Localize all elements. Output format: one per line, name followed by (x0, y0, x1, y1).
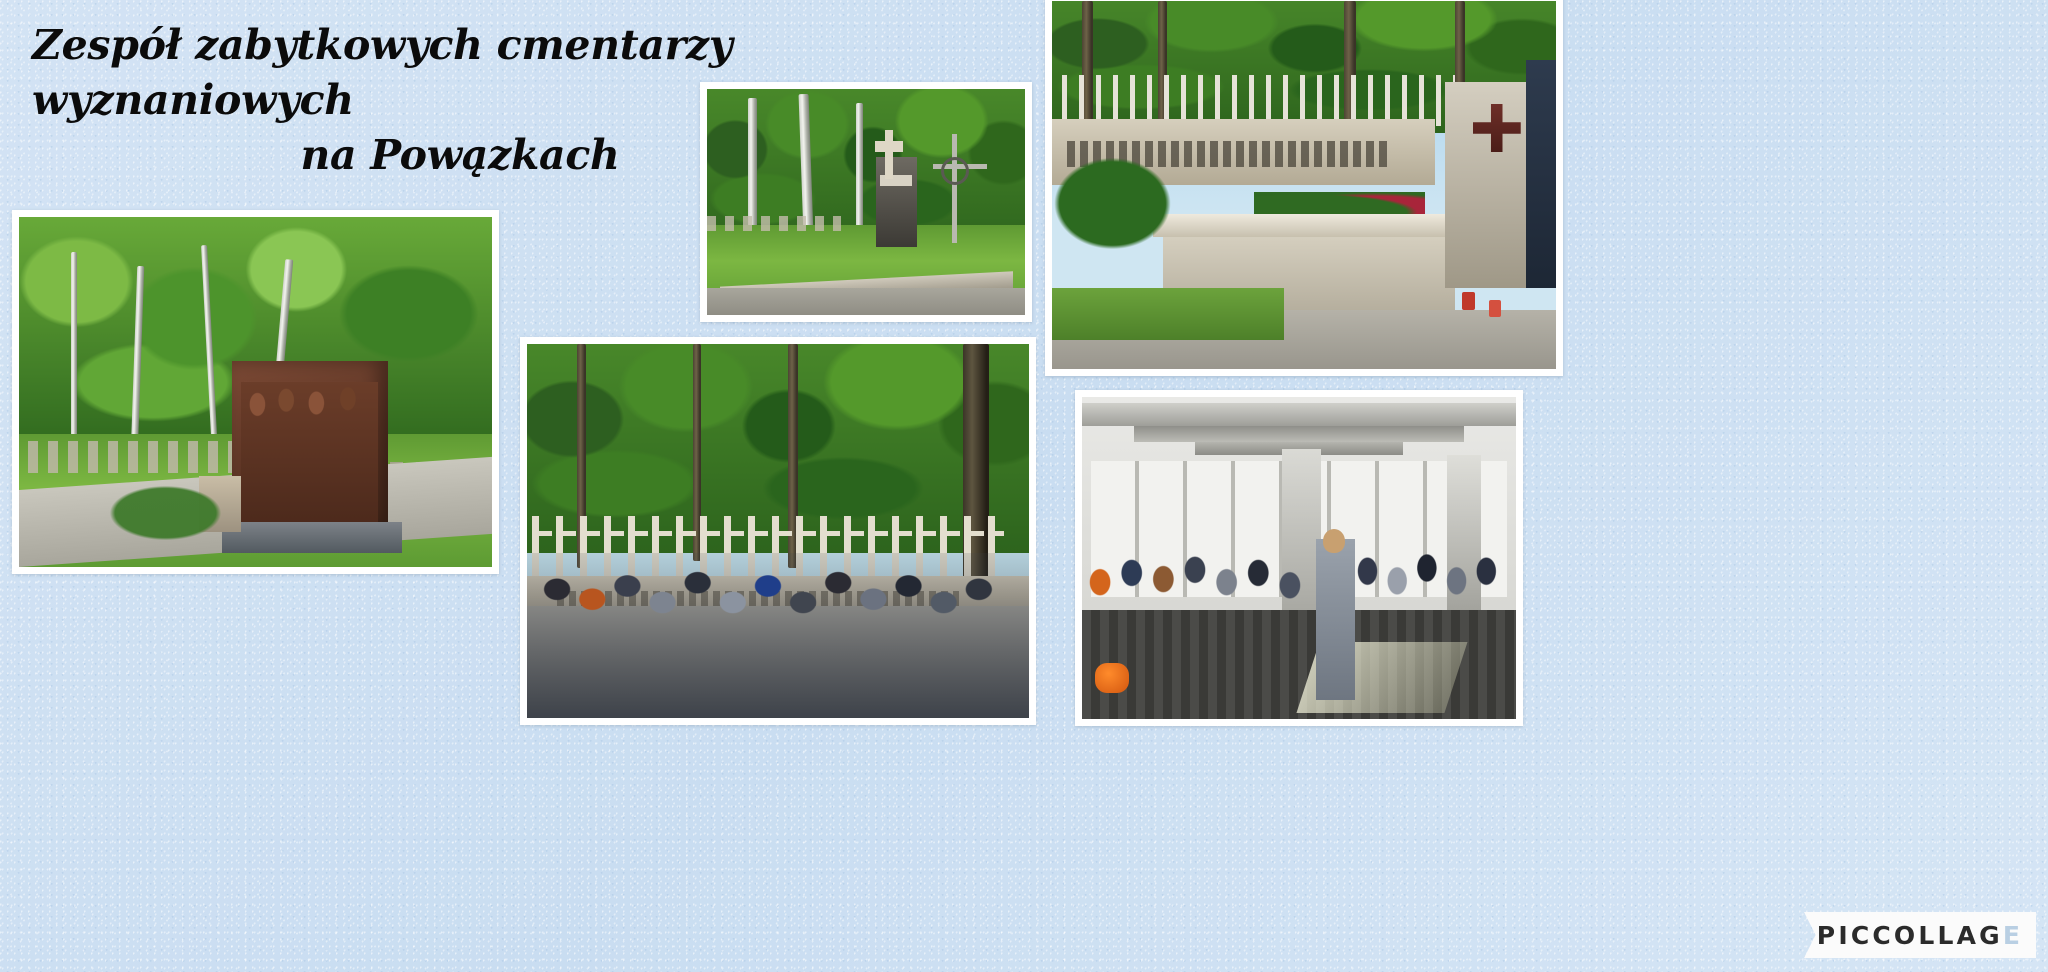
piccollage-watermark-light: E (2003, 921, 2023, 950)
visitor-figure (1526, 60, 1556, 288)
student-group-photo[interactable] (520, 337, 1036, 725)
shrubbery (104, 483, 227, 543)
piccollage-watermark-dark: PICCOLLAG (1817, 921, 2003, 950)
battalion-memorial-photo[interactable] (1045, 0, 1563, 376)
grave-candle (1489, 300, 1501, 317)
monument-pedestal (222, 522, 402, 554)
overhead-beam (1082, 403, 1516, 426)
fern-cluster (1052, 156, 1173, 252)
student-crowd (1351, 539, 1516, 700)
monument-sculpture-image (19, 217, 492, 567)
guide-with-students-photo[interactable] (1075, 390, 1523, 726)
cemetery-crosses-photo[interactable] (700, 82, 1032, 322)
cross-year-ring (941, 157, 969, 185)
stone-cross (885, 130, 893, 180)
gravestone-slab (876, 157, 917, 247)
metal-cross (952, 134, 957, 242)
guide-figure (1316, 539, 1355, 700)
student-crowd (527, 553, 1029, 718)
piccollage-watermark: PICCOLLAGE (1804, 912, 2036, 958)
overhead-beam (1134, 426, 1464, 442)
guide-head (1323, 529, 1345, 553)
student-group-image (527, 344, 1029, 718)
white-cross-arms (532, 531, 1004, 536)
grave-candle (1462, 292, 1475, 310)
monument-figures (241, 382, 378, 522)
collage-canvas: Zespół zabytkowych cmentarzy wyznaniowyc… (0, 0, 2048, 972)
orange-backpack (1095, 663, 1129, 693)
cemetery-crosses-image (707, 89, 1025, 315)
gravel-path (707, 288, 1025, 315)
grass-strip (1052, 288, 1284, 340)
battalion-memorial-image (1052, 1, 1556, 369)
monument-sculpture-photo[interactable] (12, 210, 499, 574)
guide-with-students-image (1082, 397, 1516, 719)
piccollage-watermark-label: PICCOLLAGE (1817, 921, 2023, 950)
grave-row (707, 216, 841, 232)
stone-tomb-rim (1153, 214, 1465, 236)
